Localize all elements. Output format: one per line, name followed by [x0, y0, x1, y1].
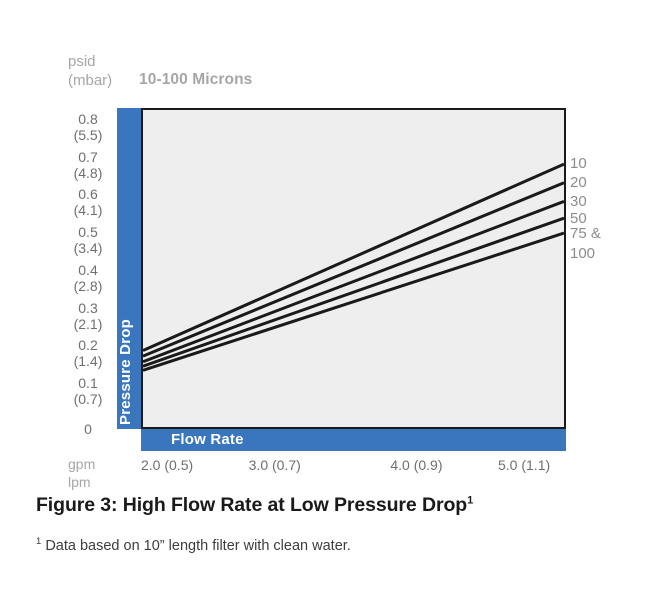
figure-footnote-text: Data based on 10” length filter with cle… [41, 538, 351, 554]
y-axis-tick-value-primary: 0.5 [60, 224, 116, 240]
y-axis-tick: 0.8(5.5) [60, 111, 116, 143]
y-axis-tick-value-primary: 0.7 [60, 149, 116, 165]
chart-title: 10-100 Microns [139, 71, 252, 89]
series-legend: 1020305075 &100 [570, 120, 646, 250]
y-axis-tick: 0.2(1.4) [60, 337, 116, 369]
y-axis-tick-value-primary: 0.4 [60, 262, 116, 278]
y-axis-tick-value-primary: 0.8 [60, 111, 116, 127]
y-axis-tick: 0.4(2.8) [60, 262, 116, 294]
y-axis-tick-value-secondary: (4.1) [60, 202, 116, 218]
y-axis-tick-value-secondary: (3.4) [60, 240, 116, 256]
figure-footnote: 1 Data based on 10” length filter with c… [36, 536, 636, 554]
y-axis-tick-value-primary: 0 [60, 421, 116, 437]
y-axis-unit-label: psid (mbar) [68, 52, 134, 90]
series-lines-svg [143, 110, 564, 427]
y-axis-tick-value-secondary: (1.4) [60, 353, 116, 369]
figure-container: psid (mbar) 10-100 Microns 0.8(5.5)0.7(4… [0, 0, 650, 615]
y-axis-tick-value-secondary: (0.7) [60, 391, 116, 407]
y-axis-tick: 0.1(0.7) [60, 375, 116, 407]
x-axis-tick: 2.0 (0.5) [141, 456, 193, 474]
y-axis-unit-primary: psid [68, 53, 96, 70]
flow-rate-axis-label: Flow Rate [171, 429, 244, 451]
y-axis-tick-value-secondary: (2.8) [60, 278, 116, 294]
series-line-10 [143, 164, 564, 350]
y-axis-tick: 0.5(3.4) [60, 224, 116, 256]
figure-caption-text: Figure 3: High Flow Rate at Low Pressure… [36, 494, 467, 516]
figure-caption-footnote-marker: 1 [467, 495, 473, 507]
series-line-20 [143, 183, 564, 356]
series-label-30: 30 [570, 193, 587, 210]
x-axis-unit-label: gpm lpm [68, 455, 128, 491]
y-axis-tick-labels: 0.8(5.5)0.7(4.8)0.6(4.1)0.5(3.4)0.4(2.8)… [60, 100, 116, 430]
plot-area [141, 108, 566, 429]
series-line-50 [143, 218, 564, 366]
series-line-30 [143, 201, 564, 361]
pressure-drop-axis-band: Pressure Drop [117, 108, 141, 429]
x-axis-unit-secondary: lpm [68, 474, 91, 490]
x-axis-unit-primary: gpm [68, 456, 95, 472]
y-axis-tick-value-primary: 0.6 [60, 186, 116, 202]
x-axis-tick-labels: 2.0 (0.5)3.0 (0.7)4.0 (0.9)5.0 (1.1) [141, 456, 566, 476]
x-axis-tick: 4.0 (0.9) [390, 456, 442, 474]
series-line-75 [143, 233, 564, 370]
y-axis-tick-value-primary: 0.1 [60, 375, 116, 391]
y-axis-tick: 0.6(4.1) [60, 186, 116, 218]
y-axis-tick-value-secondary: (4.8) [60, 165, 116, 181]
flow-rate-axis-band: Flow Rate [141, 429, 566, 451]
y-axis-unit-secondary: (mbar) [68, 72, 112, 89]
y-axis-tick: 0 [60, 421, 116, 437]
y-axis-tick: 0.7(4.8) [60, 149, 116, 181]
y-axis-tick-value-primary: 0.3 [60, 300, 116, 316]
x-axis-tick: 5.0 (1.1) [498, 456, 550, 474]
series-label-75: 75 & [570, 225, 601, 242]
y-axis-tick-value-secondary: (2.1) [60, 316, 116, 332]
figure-caption: Figure 3: High Flow Rate at Low Pressure… [36, 494, 636, 517]
series-label-100: 100 [570, 245, 595, 262]
series-label-20: 20 [570, 174, 587, 191]
pressure-drop-axis-label: Pressure Drop [117, 125, 141, 425]
x-axis-tick: 3.0 (0.7) [249, 456, 301, 474]
y-axis-tick-value-secondary: (5.5) [60, 127, 116, 143]
series-label-10: 10 [570, 155, 587, 172]
y-axis-tick: 0.3(2.1) [60, 300, 116, 332]
y-axis-tick-value-primary: 0.2 [60, 337, 116, 353]
